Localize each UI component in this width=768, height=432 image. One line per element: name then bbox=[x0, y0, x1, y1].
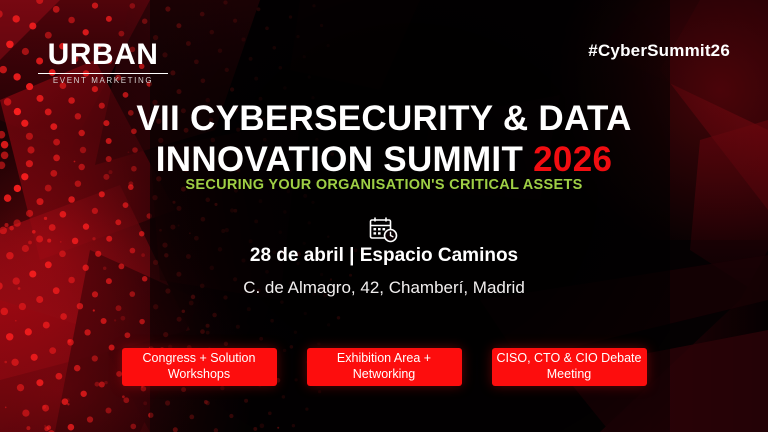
title-line-1: VII CYBERSECURITY & DATA bbox=[0, 98, 768, 139]
logo-wordmark: URBAN bbox=[38, 40, 168, 70]
brand-logo[interactable]: URBAN EVENT MARKETING bbox=[38, 40, 168, 85]
track-button-exhibition[interactable]: Exhibition Area + Networking bbox=[307, 348, 462, 386]
track-buttons: Congress + Solution Workshops Exhibition… bbox=[0, 348, 768, 386]
track-button-debate[interactable]: CISO, CTO & CIO Debate Meeting bbox=[492, 348, 647, 386]
glow-bottom-left bbox=[0, 210, 280, 432]
event-title: VII CYBERSECURITY & DATA INNOVATION SUMM… bbox=[0, 98, 768, 181]
event-banner: URBAN EVENT MARKETING #CyberSummit26 VII… bbox=[0, 0, 768, 432]
title-line-2-main: INNOVATION SUMMIT bbox=[156, 140, 523, 179]
track-button-congress[interactable]: Congress + Solution Workshops bbox=[122, 348, 277, 386]
event-subtitle: SECURING YOUR ORGANISATION'S CRITICAL AS… bbox=[0, 177, 768, 193]
calendar-clock-icon bbox=[369, 216, 399, 244]
event-date-venue: 28 de abril | Espacio Caminos bbox=[0, 245, 768, 267]
title-line-2: INNOVATION SUMMIT 2026 bbox=[0, 139, 768, 180]
event-hashtag: #CyberSummit26 bbox=[588, 41, 730, 61]
event-address: C. de Almagro, 42, Chamberí, Madrid bbox=[0, 278, 768, 298]
logo-divider bbox=[38, 73, 168, 74]
title-year: 2026 bbox=[533, 140, 612, 179]
logo-tagline: EVENT MARKETING bbox=[38, 77, 168, 85]
